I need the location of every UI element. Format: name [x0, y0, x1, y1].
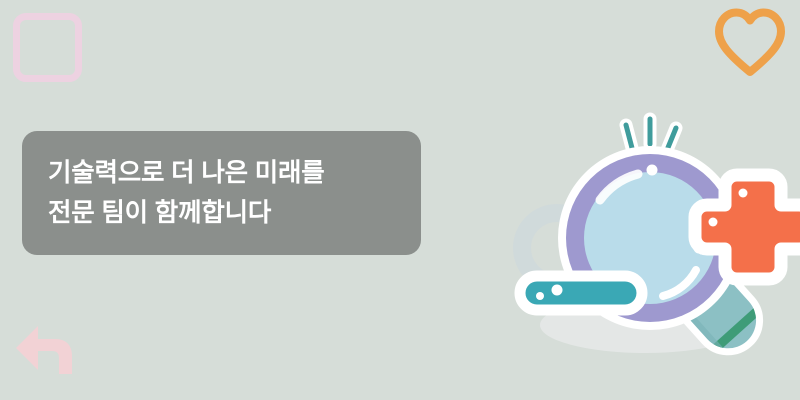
headline-card: 기술력으로 더 나은 미래를 전문 팀이 함께합니다 [22, 131, 421, 255]
headline-line-2: 전문 팀이 함께합니다 [48, 193, 421, 233]
reply-arrow-icon [8, 312, 94, 390]
pill-shape [520, 276, 642, 310]
magnifying-glass-illustration [500, 100, 800, 380]
headline-line-1: 기술력으로 더 나은 미래를 [48, 153, 421, 193]
promo-banner: 기술력으로 더 나은 미래를 전문 팀이 함께합니다 [0, 0, 800, 400]
sparkle-lines [626, 119, 676, 150]
rounded-square-outline-icon [13, 13, 82, 82]
heart-outline-icon [714, 6, 786, 78]
